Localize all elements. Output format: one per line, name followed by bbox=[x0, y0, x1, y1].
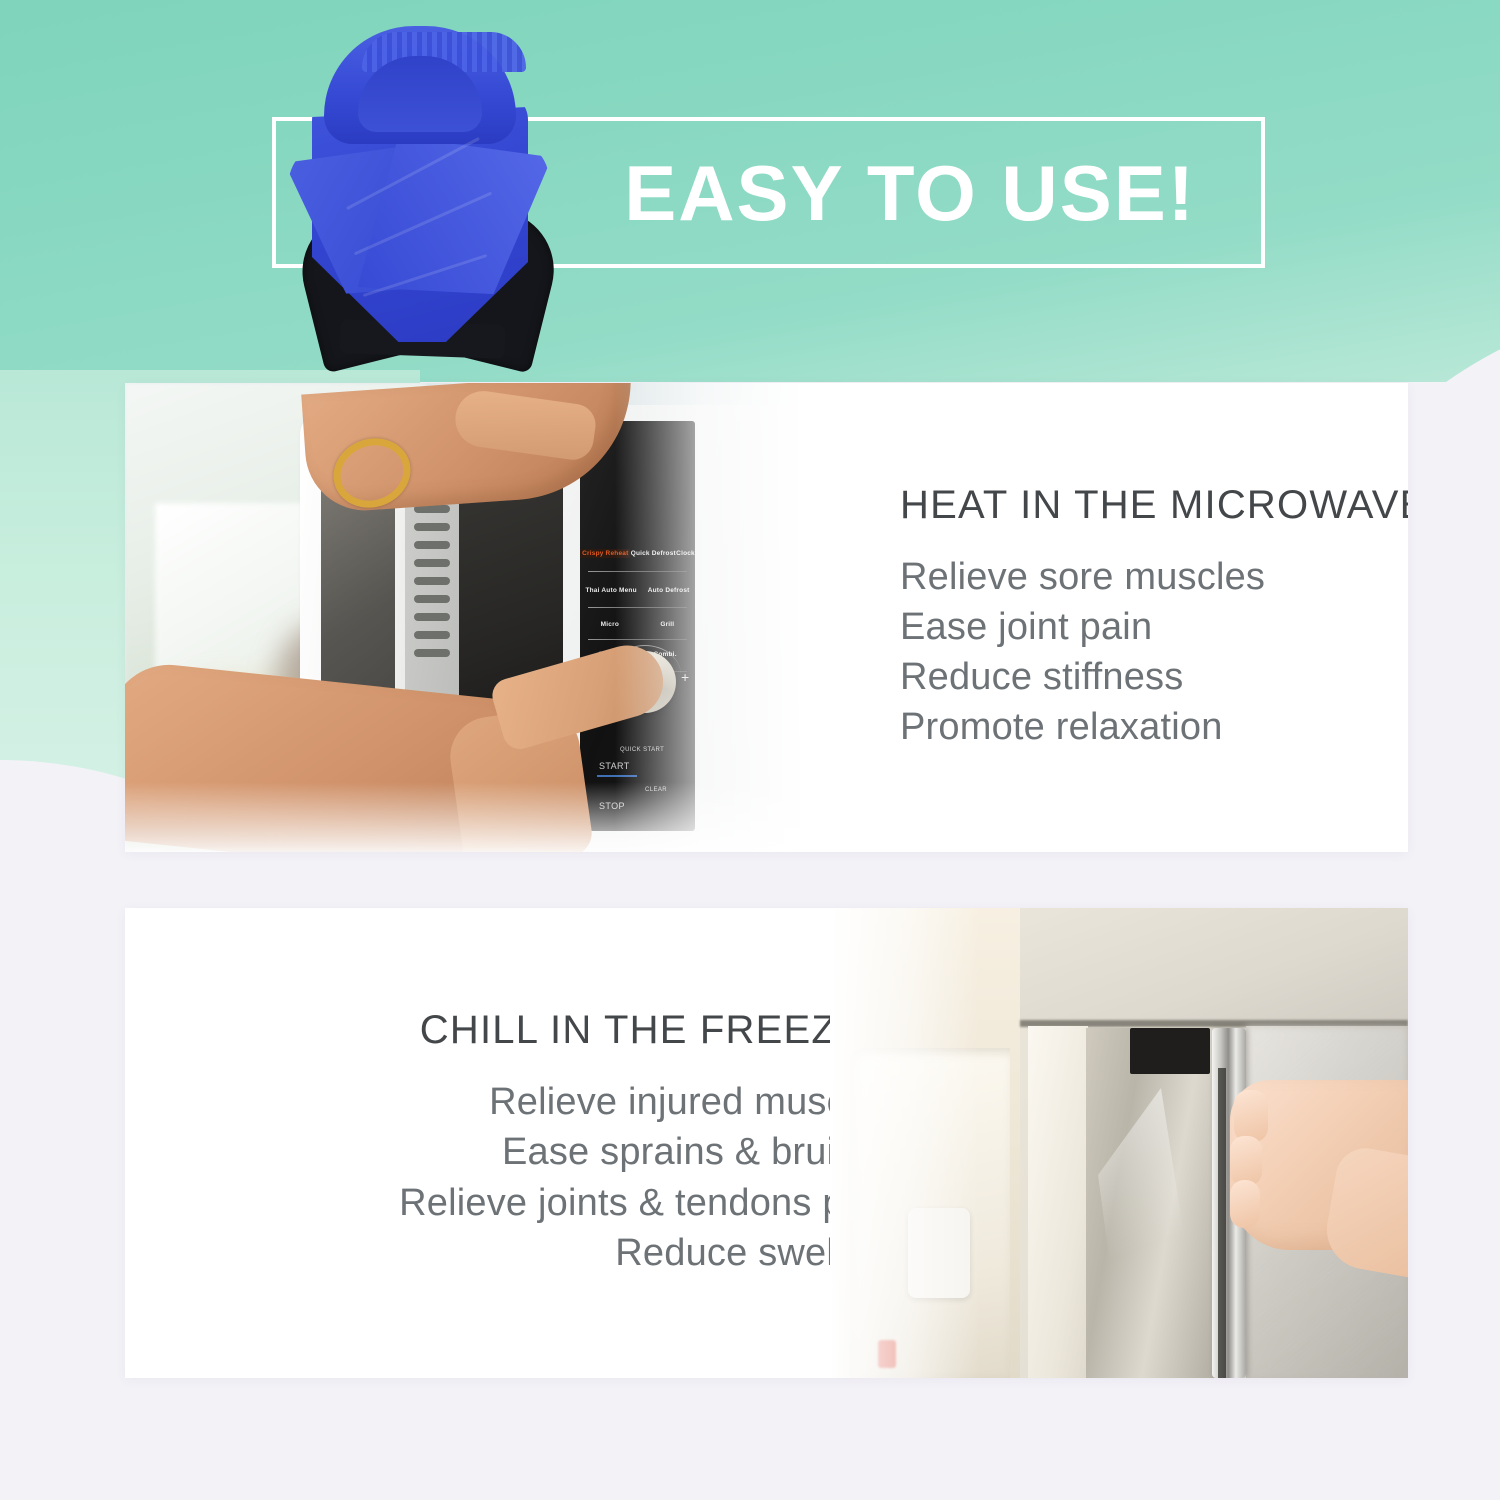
photo-microwave: Crispy Reheat Quick Defrost Clock Thai A… bbox=[125, 383, 805, 852]
freezer-handle-bracket bbox=[1130, 1028, 1210, 1074]
card-chill-freezer: CHILL IN THE FREEZER Relieve injured mus… bbox=[125, 908, 1408, 1378]
card-chill-benefit-list: Relieve injured muscles Ease sprains & b… bbox=[399, 1077, 895, 1278]
benefit-item: Promote relaxation bbox=[900, 702, 1265, 752]
card-heat-heading: HEAT IN THE MICROWAVE bbox=[900, 483, 1408, 528]
benefit-item: Relieve sore muscles bbox=[900, 552, 1265, 602]
hero-title: EASY TO USE! bbox=[560, 143, 1260, 243]
benefit-item: Ease joint pain bbox=[900, 602, 1265, 652]
benefit-item: Relieve injured muscles bbox=[399, 1077, 895, 1127]
photo-freezer bbox=[830, 908, 1408, 1378]
card-chill-text-block: CHILL IN THE FREEZER Relieve injured mus… bbox=[235, 908, 895, 1378]
freezer-top-unit bbox=[1020, 908, 1408, 1026]
hand-finger-1 bbox=[1234, 1090, 1268, 1142]
photo-fade-left bbox=[830, 908, 980, 1378]
card-heat-text-block: HEAT IN THE MICROWAVE Relieve sore muscl… bbox=[900, 383, 1408, 852]
infographic-canvas: EASY TO USE! bbox=[0, 0, 1500, 1500]
benefit-item: Ease sprains & bruises bbox=[399, 1127, 895, 1177]
benefit-item: Reduce stiffness bbox=[900, 652, 1265, 702]
freezer-handle-shadow bbox=[1218, 1068, 1226, 1378]
freezer-door-edge bbox=[1028, 1026, 1088, 1378]
benefit-item: Reduce swelling bbox=[399, 1228, 895, 1278]
photo-fade-bottom bbox=[125, 782, 805, 852]
card-heat-benefit-list: Relieve sore muscles Ease joint pain Red… bbox=[900, 552, 1265, 753]
card-heat-microwave: Crispy Reheat Quick Defrost Clock Thai A… bbox=[125, 383, 1408, 852]
hand-finger-3 bbox=[1230, 1180, 1260, 1228]
benefit-item: Relieve joints & tendons pain bbox=[399, 1178, 895, 1228]
card-chill-heading: CHILL IN THE FREEZER bbox=[420, 1008, 895, 1053]
product-image-neck-wrap bbox=[300, 22, 540, 372]
hand-finger-2 bbox=[1230, 1136, 1262, 1186]
